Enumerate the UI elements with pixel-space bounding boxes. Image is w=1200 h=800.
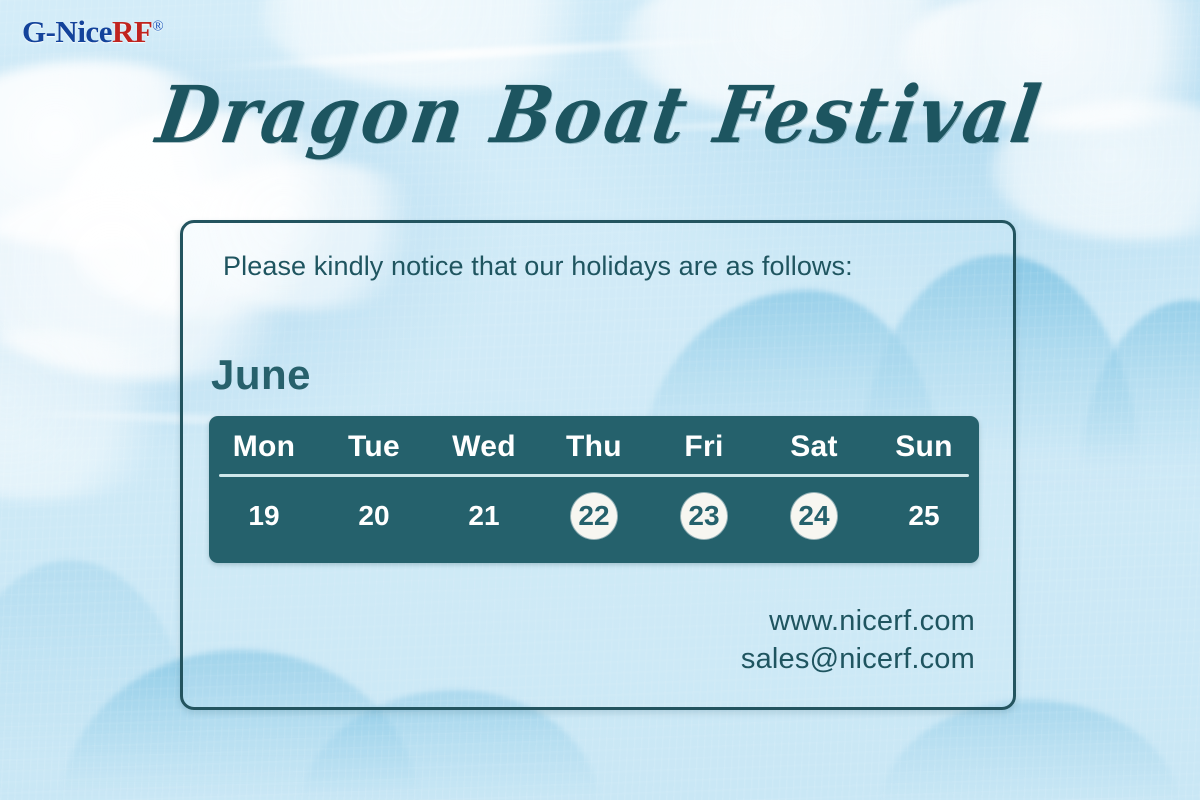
website-link[interactable]: www.nicerf.com bbox=[741, 602, 975, 641]
weekday-header-tue: Tue bbox=[319, 422, 429, 474]
weekday-header-wed: Wed bbox=[429, 422, 539, 474]
holiday-notice-panel: Please kindly notice that our holidays a… bbox=[180, 220, 1016, 710]
company-logo: G-NiceRF® bbox=[22, 16, 163, 47]
calendar-dates-row: 19 20 21 22 23 24 25 bbox=[209, 477, 979, 555]
calendar-day-19: 19 bbox=[209, 477, 319, 555]
calendar-day-21: 21 bbox=[429, 477, 539, 555]
date-value: 20 bbox=[351, 493, 397, 539]
weekday-header-mon: Mon bbox=[209, 422, 319, 474]
date-value: 25 bbox=[901, 493, 947, 539]
contact-info: www.nicerf.com sales@nicerf.com bbox=[741, 602, 975, 679]
month-heading: June bbox=[211, 351, 311, 399]
mountain-silhouette bbox=[0, 560, 200, 800]
logo-text-secondary: RF bbox=[112, 14, 152, 49]
mountain-silhouette bbox=[1080, 300, 1200, 500]
weekday-header-sat: Sat bbox=[759, 422, 869, 474]
mountain-silhouette bbox=[880, 700, 1180, 800]
calendar-day-25: 25 bbox=[869, 477, 979, 555]
logo-text-primary: G-Nice bbox=[22, 14, 112, 49]
cloud-shape bbox=[0, 330, 200, 500]
registered-trademark-icon: ® bbox=[152, 19, 163, 35]
weekday-header-sun: Sun bbox=[869, 422, 979, 474]
notice-text: Please kindly notice that our holidays a… bbox=[223, 251, 853, 282]
weekday-header-thu: Thu bbox=[539, 422, 649, 474]
date-value: 21 bbox=[461, 493, 507, 539]
date-value: 23 bbox=[681, 493, 727, 539]
holiday-calendar: Mon Tue Wed Thu Fri Sat Sun 19 20 21 22 … bbox=[209, 416, 979, 563]
calendar-header-row: Mon Tue Wed Thu Fri Sat Sun bbox=[209, 422, 979, 474]
date-value: 19 bbox=[241, 493, 287, 539]
cloud-streak bbox=[200, 33, 760, 72]
date-value: 24 bbox=[791, 493, 837, 539]
calendar-day-20: 20 bbox=[319, 477, 429, 555]
poster-canvas: G-NiceRF® Dragon Boat Festival Please ki… bbox=[0, 0, 1200, 800]
calendar-day-24-holiday: 24 bbox=[759, 477, 869, 555]
weekday-header-fri: Fri bbox=[649, 422, 759, 474]
calendar-day-22-holiday: 22 bbox=[539, 477, 649, 555]
email-link[interactable]: sales@nicerf.com bbox=[741, 640, 975, 679]
date-value: 22 bbox=[571, 493, 617, 539]
page-title: Dragon Boat Festival bbox=[0, 74, 1200, 156]
calendar-day-23-holiday: 23 bbox=[649, 477, 759, 555]
